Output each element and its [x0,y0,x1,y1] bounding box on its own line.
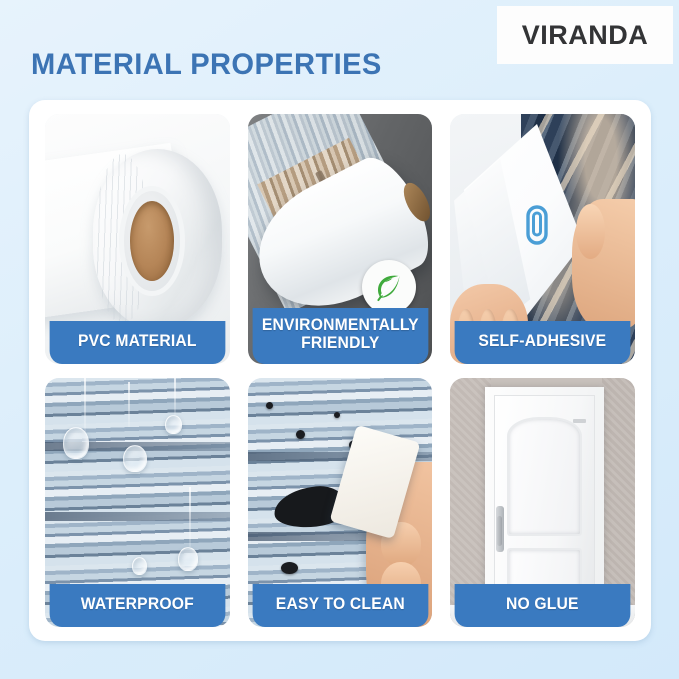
water-droplet-3 [165,415,182,434]
feature-label-waterproof: WATERPROOF [50,584,225,627]
feature-label-easy-to-clean: EASY TO CLEAN [252,584,427,627]
features-row-2: WATERPROOF EASY TO CLEAN [45,378,635,628]
water-droplet-1 [63,427,89,459]
page-title: MATERIAL PROPERTIES [31,48,382,82]
water-trail-4 [189,487,191,547]
eco-leaf-badge [362,260,416,314]
brand-name: VIRANDA [522,20,649,51]
paperclip-badge [524,204,550,251]
feature-tile-no-glue[interactable]: NO GLUE [450,378,635,628]
right-thumb [576,204,606,259]
ink-spot-1 [266,402,273,409]
features-row-1: PVC MATERIAL [45,114,635,364]
feature-tile-self-adhesive[interactable]: SELF-ADHESIVE [450,114,635,364]
leaf-icon [372,270,406,304]
wall-right [602,378,635,608]
door-hinge [573,419,586,423]
water-droplet-5 [178,547,198,571]
cardboard-core [130,201,174,281]
water-trail-1 [84,378,86,433]
brand-badge: VIRANDA [497,6,673,64]
water-trail-3 [174,378,176,415]
ink-spot-2 [296,430,305,439]
water-droplet-2 [123,445,147,472]
ink-spot-5 [281,562,298,574]
feature-tile-environmentally-friendly[interactable]: ENVIRONMENTALLY FRIENDLY [248,114,433,364]
door-panel-top [507,417,583,537]
feature-label-environmentally-friendly: ENVIRONMENTALLY FRIENDLY [252,308,427,364]
water-droplet-4 [132,557,147,575]
features-card: PVC MATERIAL [29,100,651,641]
feature-label-no-glue: NO GLUE [455,584,630,627]
feature-label-self-adhesive: SELF-ADHESIVE [455,321,630,364]
ink-spot-3 [334,412,340,418]
feature-label-line-1: ENVIRONMENTALLY [256,317,424,335]
feature-tile-easy-to-clean[interactable]: EASY TO CLEAN [248,378,433,628]
door-handle [497,516,502,546]
feature-tile-pvc-material[interactable]: PVC MATERIAL [45,114,230,364]
plank-seam-2 [45,512,230,521]
feature-label-line-2: FRIENDLY [256,335,424,353]
paperclip-icon [524,204,550,246]
water-trail-2 [128,382,130,427]
feature-tile-waterproof[interactable]: WATERPROOF [45,378,230,628]
feature-label-pvc-material: PVC MATERIAL [50,321,225,364]
